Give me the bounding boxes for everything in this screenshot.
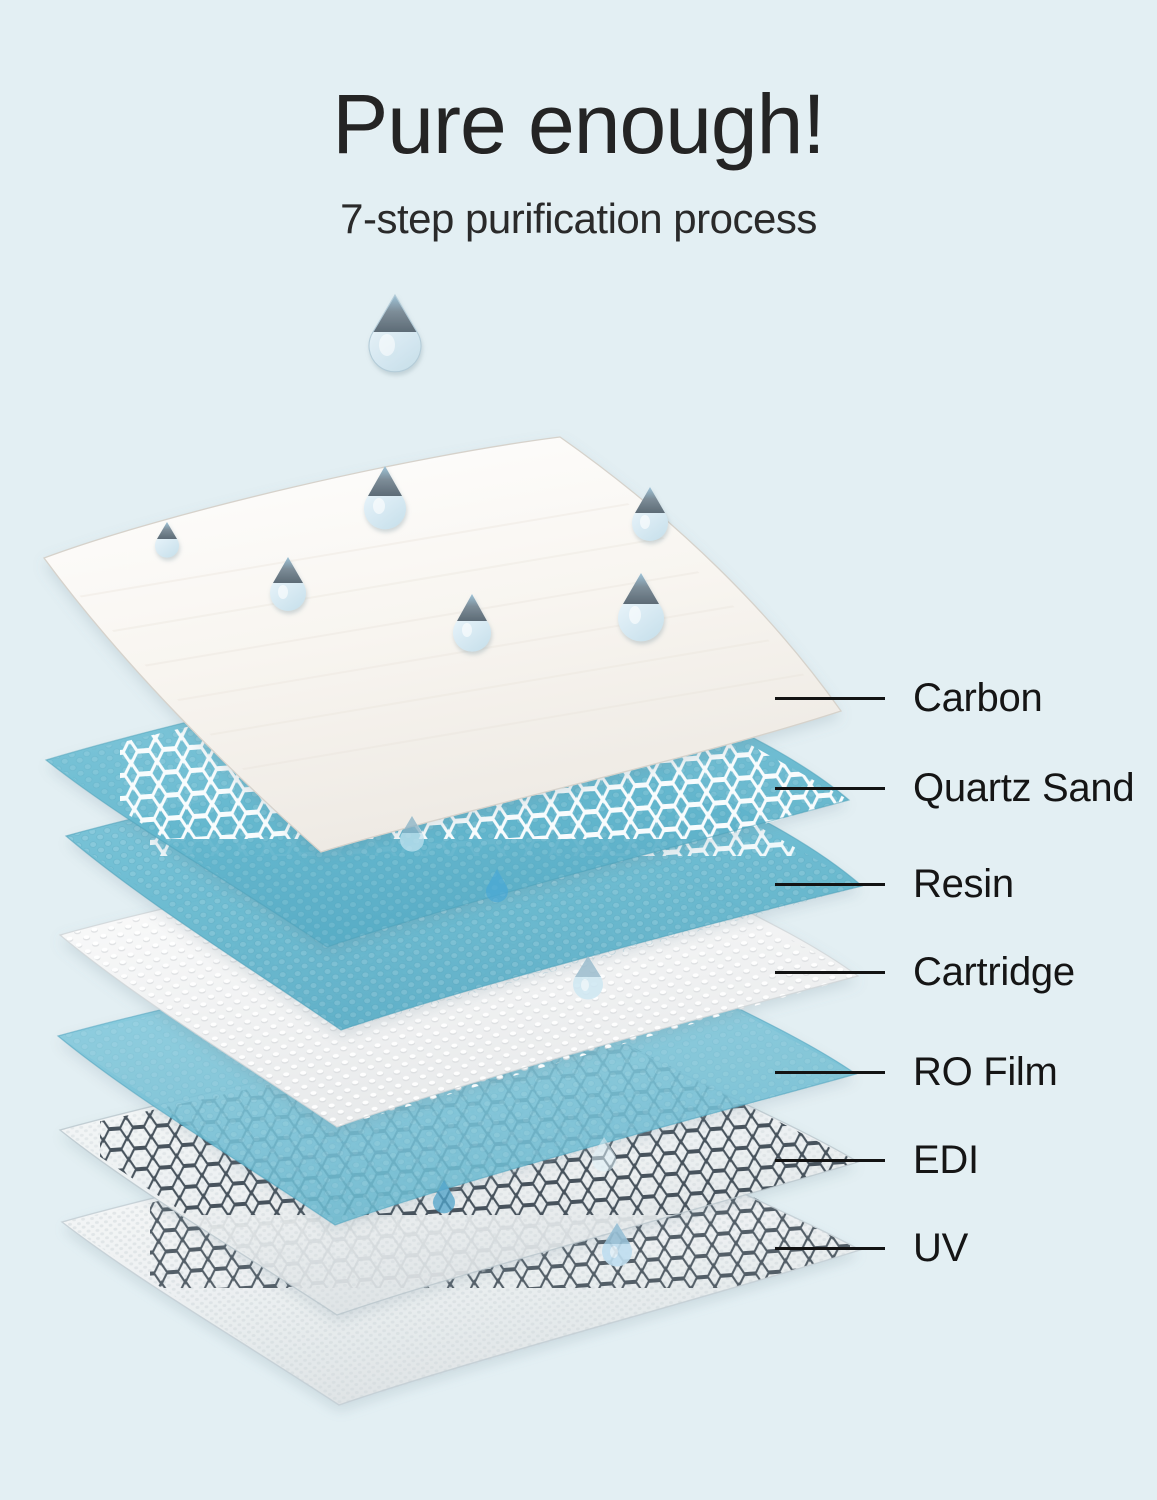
callout-label-quartz-sand: Quartz Sand	[913, 768, 1134, 808]
leader-line-ro-film	[775, 1071, 885, 1074]
callout-cartridge[interactable]: Cartridge	[775, 950, 1075, 994]
filter-layer-stack-illustration	[0, 0, 1157, 1500]
leader-line-uv	[775, 1247, 885, 1250]
callout-label-carbon: Carbon	[913, 678, 1042, 718]
callout-carbon[interactable]: Carbon	[775, 676, 1042, 720]
leader-line-edi	[775, 1159, 885, 1162]
callout-quartz-sand[interactable]: Quartz Sand	[775, 766, 1134, 810]
leader-line-carbon	[775, 697, 885, 700]
callout-ro-film[interactable]: RO Film	[775, 1050, 1058, 1094]
callout-label-edi: EDI	[913, 1140, 979, 1180]
callout-label-uv: UV	[913, 1228, 968, 1268]
callout-edi[interactable]: EDI	[775, 1138, 979, 1182]
leader-line-quartz-sand	[775, 787, 885, 790]
callout-label-resin: Resin	[913, 864, 1014, 904]
leader-line-cartridge	[775, 971, 885, 974]
callout-label-cartridge: Cartridge	[913, 952, 1075, 992]
callout-resin[interactable]: Resin	[775, 862, 1014, 906]
droplet-falling	[369, 295, 421, 372]
infographic-canvas: Pure enough! 7-step purification process	[0, 0, 1157, 1500]
callout-label-ro-film: RO Film	[913, 1052, 1058, 1092]
callout-uv[interactable]: UV	[775, 1226, 968, 1270]
leader-line-resin	[775, 883, 885, 886]
